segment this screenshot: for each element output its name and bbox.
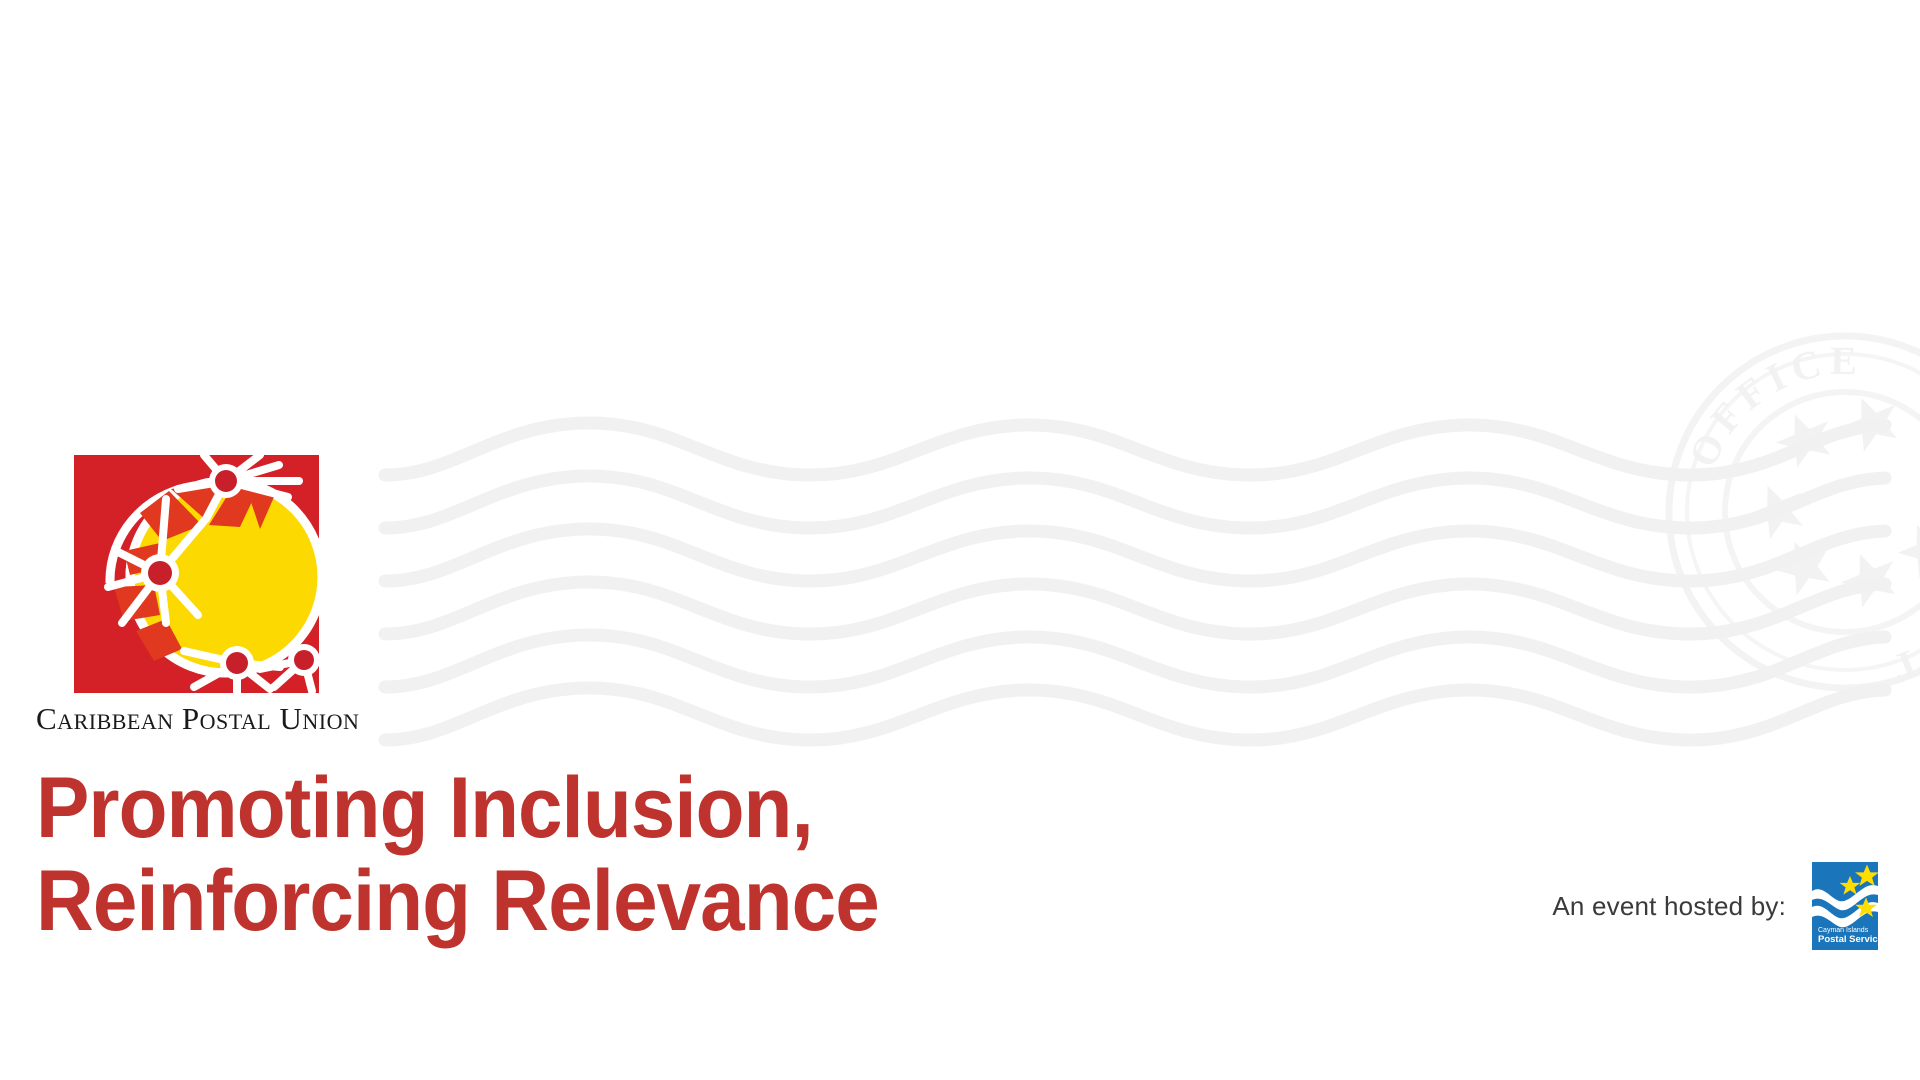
svg-text:POST: POST [1864, 560, 1920, 694]
cips-logo-line1: Cayman Islands [1818, 927, 1869, 934]
headline-line-2: Reinforcing Relevance [36, 855, 1152, 948]
page-title: Promoting Inclusion, Reinforcing Relevan… [36, 762, 1236, 948]
slide-canvas: OFFICE POST [0, 0, 1920, 1080]
cayman-islands-postal-service-logo-icon: Cayman Islands Postal Service [1812, 862, 1878, 950]
cips-logo-line2: Postal Service [1818, 934, 1878, 945]
cpu-wordmark-text: Caribbean Postal Union [36, 703, 456, 734]
svg-text:OFFICE: OFFICE [1658, 319, 1892, 485]
caribbean-postal-union-logo: Caribbean Postal Union [36, 455, 456, 734]
cpu-globe-mark-icon [74, 455, 319, 693]
headline-line-1: Promoting Inclusion, [36, 762, 1152, 855]
hosted-by-block: An event hosted by: Cayman Islands Posta… [1552, 862, 1878, 950]
post-office-postmark-icon: OFFICE POST [1616, 283, 1920, 753]
cancellation-waves-icon [385, 423, 1885, 740]
hosted-by-label: An event hosted by: [1552, 891, 1786, 922]
